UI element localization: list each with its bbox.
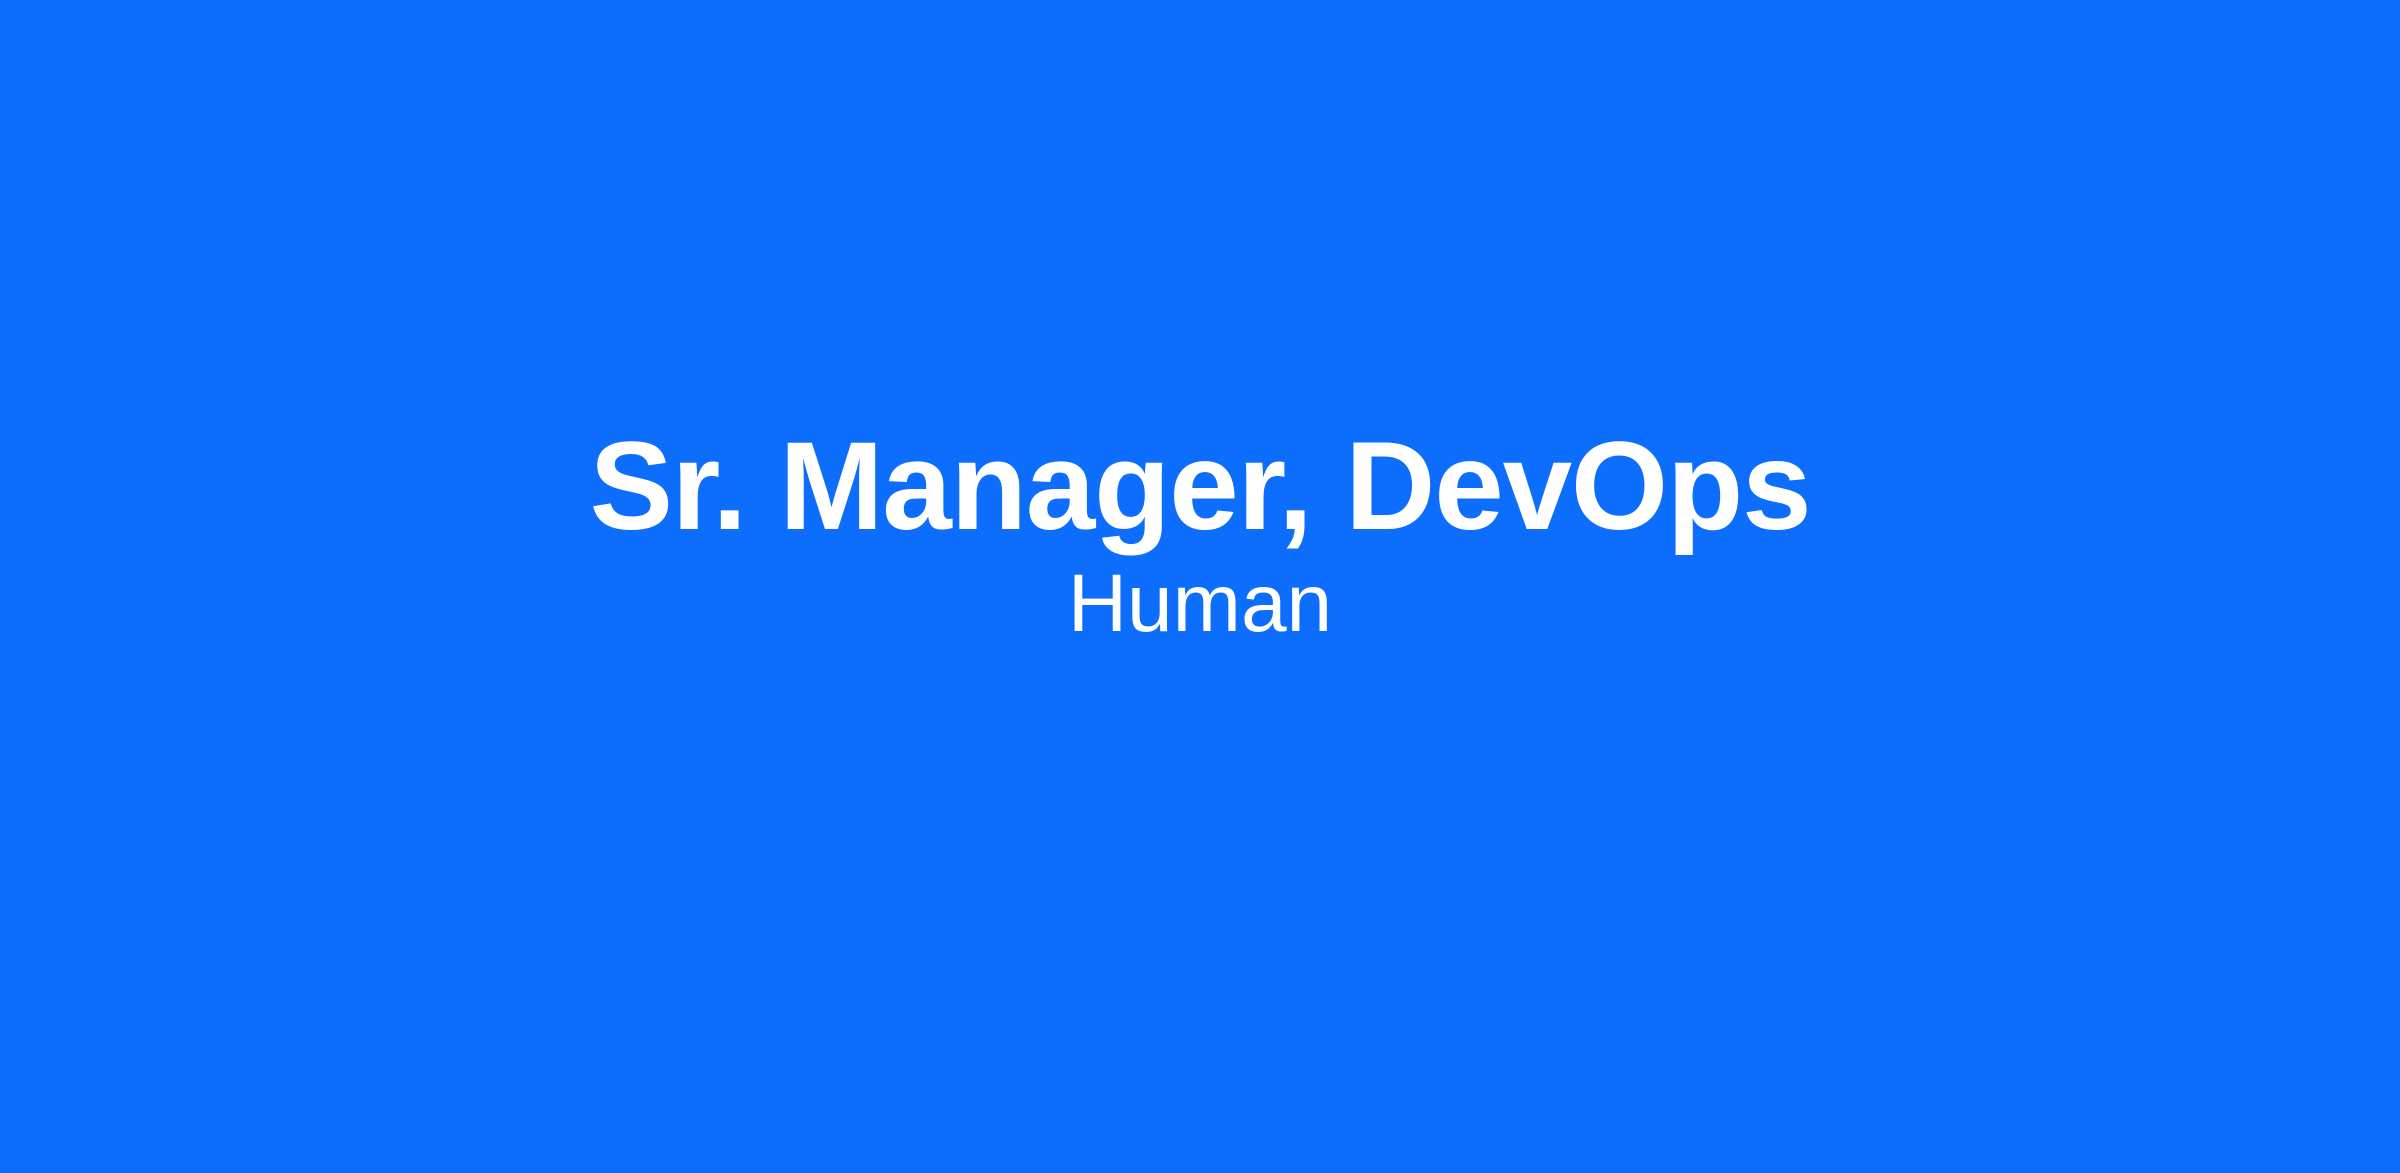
role-text-block: Sr. Manager, DevOps Human <box>0 424 2400 645</box>
role-title: Sr. Manager, DevOps <box>590 424 1811 549</box>
role-subtitle: Human <box>1068 563 1332 645</box>
role-card: Sr. Manager, DevOps Human <box>0 0 2400 1173</box>
